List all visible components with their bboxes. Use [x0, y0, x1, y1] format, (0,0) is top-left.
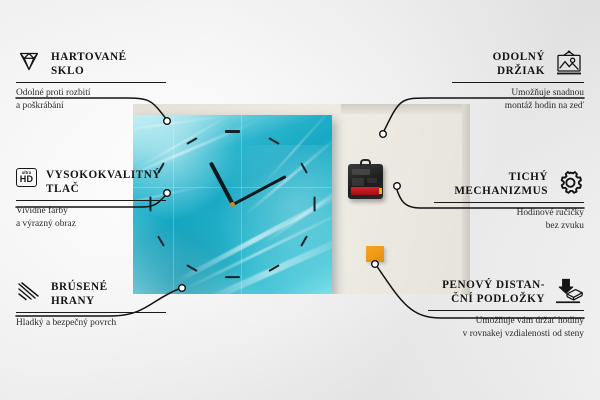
feature-divider [434, 202, 584, 203]
feature-divider [16, 82, 166, 83]
feature-divider [16, 312, 166, 313]
mechanism-label-block [352, 178, 364, 186]
feature-silent-mechanism[interactable]: TICHÝ MECHANIZMUS Hodinové ručičky bez z… [434, 170, 584, 232]
gear-icon [557, 170, 584, 195]
infographic-stage: HARTOVANÉ SKLO Odolné proti rozbití a po… [0, 0, 600, 400]
feature-description: Vividné farby a výrazný obraz [16, 205, 166, 229]
feature-title: TICHÝ MECHANIZMUS [454, 170, 548, 198]
clock-center-hub [230, 202, 235, 207]
feature-title: VYSOKOKVALITNÝ TLAČ [46, 168, 161, 196]
feature-foam-spacers[interactable]: PENOVÝ DISTAN- ČNÍ PODLOŽKY Umožňuje vám… [428, 278, 584, 340]
foam-spacer-pad [366, 246, 384, 262]
battery-terminal [379, 188, 382, 194]
feature-divider [452, 82, 584, 83]
feature-description: Hodinové ručičky bez zvuku [434, 207, 584, 231]
clock-tick [313, 197, 315, 212]
feature-title: BRÚSENÉ HRANY [51, 280, 108, 308]
feature-description: Umožňuje vám držať hodiny v rovnakej vzd… [428, 315, 584, 339]
clock-tick [225, 130, 240, 132]
feature-description: Hladký a bezpečný povrch [16, 317, 166, 329]
feature-divider [428, 310, 584, 311]
feature-divider [16, 200, 166, 201]
clock-print-gridline [173, 115, 174, 294]
mechanism-hanger-tab [360, 159, 371, 166]
photo-panel-edge-top [341, 104, 470, 114]
mechanism-label-block [367, 178, 377, 183]
feature-description: Odolné proti rozbití a poškrábání [16, 87, 166, 111]
ultra-hd-icon: ultra HD [16, 168, 37, 187]
product-photo [133, 104, 470, 294]
stacked-pads-arrow-icon [554, 278, 584, 304]
clock-mechanism [348, 164, 383, 199]
diamond-icon [16, 50, 42, 72]
feature-tempered-glass[interactable]: HARTOVANÉ SKLO Odolné proti rozbití a po… [16, 50, 166, 112]
battery [351, 187, 380, 195]
clock-print-gridline [241, 115, 242, 294]
feature-title: ODOLNÝ DRŽIAK [493, 50, 545, 78]
polished-edges-icon [16, 280, 42, 302]
picture-frame-hanger-icon [554, 50, 584, 76]
feature-durable-hanger[interactable]: ODOLNÝ DRŽIAK Umožňuje snadnou montáž ho… [452, 50, 584, 112]
feature-title: PENOVÝ DISTAN- ČNÍ PODLOŽKY [442, 278, 545, 306]
mechanism-label-block [352, 169, 370, 175]
feature-title: HARTOVANÉ SKLO [51, 50, 127, 78]
feature-description: Umožňuje snadnou montáž hodin na zeď [452, 87, 584, 111]
ultra-hd-icon-main-text: HD [20, 175, 33, 184]
feature-high-quality-print[interactable]: ultra HD VYSOKOKVALITNÝ TLAČ Vividné far… [16, 168, 166, 230]
feature-polished-edges[interactable]: BRÚSENÉ HRANY Hladký a bezpečný povrch [16, 280, 166, 330]
